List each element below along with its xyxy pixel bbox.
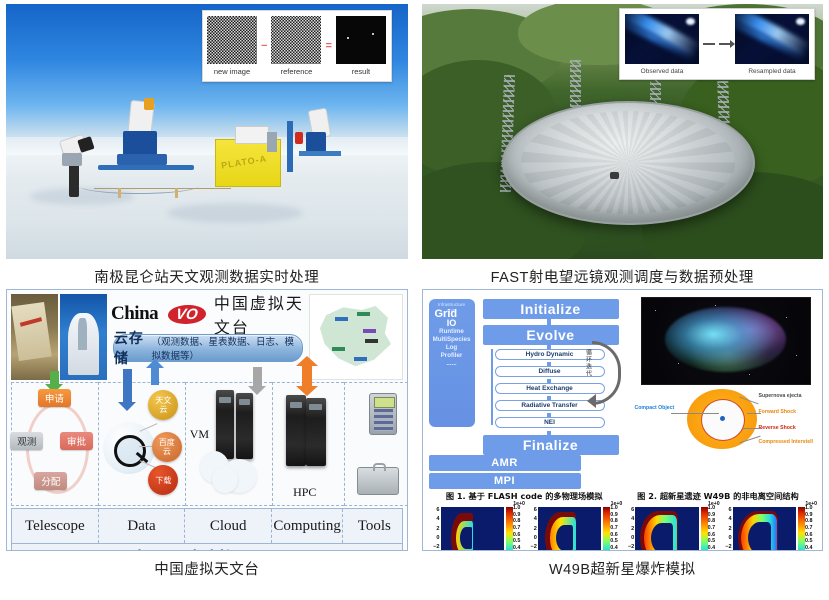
- telescope-base: [117, 154, 167, 165]
- map-node: [332, 347, 345, 351]
- y-tick: 4: [623, 516, 634, 522]
- hpc-label: HPC: [293, 485, 316, 500]
- inset-item: Resampled data: [735, 14, 809, 75]
- calculator-icon: [369, 393, 397, 435]
- y-tick: −2: [429, 544, 440, 550]
- leader-line: [747, 413, 761, 414]
- down-arrow-icon: [123, 369, 132, 403]
- cavity: [556, 525, 573, 551]
- cb-tick: 0.7: [610, 525, 621, 531]
- panel-caption-antarctic: 南极昆仑站天文观测数据实时处理: [6, 259, 408, 287]
- server-rack: [236, 393, 253, 459]
- panel-caption-china-vo: 中国虚拟天文台: [6, 551, 408, 579]
- leader-line: [743, 428, 761, 429]
- vo-column-row: 申请 审批 分配 观测: [11, 382, 403, 506]
- slide-page: PLATO-A: [0, 0, 829, 600]
- colorbar-exponent: 1e+0: [611, 501, 623, 507]
- inset-label: Observed data: [641, 68, 684, 75]
- search-magnifier-icon: [103, 422, 155, 474]
- infrastructure-units-panel: Infrastructure units Grid IO Runtime Mul…: [429, 299, 475, 427]
- data-node-astro-cloud[interactable]: 天文 云: [148, 390, 178, 420]
- rope-post: [118, 188, 121, 198]
- china-vo-chinese-name: 中国虚拟天文台: [214, 290, 305, 338]
- vo-column-data: 天文 云 百度 云 下载: [98, 382, 185, 506]
- panel-caption-fast: FAST射电望远镜观测调度与数据预处理: [422, 259, 824, 287]
- vm-label: VM: [190, 427, 209, 442]
- cloud-icon: [212, 466, 238, 493]
- new-image-thumbnail: [207, 16, 257, 64]
- vo-column-computing: HPC: [272, 382, 343, 506]
- colorbar: [798, 507, 805, 551]
- inset-label: new image: [214, 67, 250, 76]
- flow-finalize: Finalize: [483, 435, 619, 455]
- node-line-1: 下载: [155, 476, 171, 485]
- vo-column-labels: Telescope Data Cloud Computing Tools: [11, 508, 403, 544]
- telescope-pier: [69, 161, 79, 196]
- cb-tick: 0.8: [610, 518, 621, 524]
- vo-label-tools: Tools: [343, 509, 405, 543]
- leader-line: [671, 413, 719, 414]
- star: [796, 355, 797, 356]
- star: [678, 363, 679, 364]
- inset-item: new image: [207, 16, 257, 76]
- cb-tick: 0.8: [513, 518, 524, 524]
- node-line-2: 云: [159, 405, 167, 414]
- hpc-rack: [286, 395, 306, 466]
- cb-tick: 0.9: [805, 512, 816, 518]
- y-tick: 4: [721, 516, 732, 522]
- red-marker: [295, 132, 303, 145]
- cb-tick: 0.6: [513, 532, 524, 538]
- safety-rope: [94, 188, 231, 189]
- cb-tick: 0.8: [805, 518, 816, 524]
- telescope-base: [299, 151, 341, 156]
- node-line-1: 百度: [159, 438, 175, 447]
- y-tick: −2: [526, 544, 537, 550]
- minus-operator: −: [260, 40, 268, 52]
- snr-label-compressed-interstellar: Compressed Interstell: [759, 439, 814, 445]
- colorbar: [603, 507, 610, 551]
- cb-tick: 0.4: [805, 545, 816, 551]
- cb-tick: 0.6: [610, 532, 621, 538]
- panel-fast: Observed data Resampled data: [422, 4, 824, 289]
- w49b-remnant-image: [641, 297, 811, 385]
- y-tick: 0: [526, 535, 537, 541]
- cb-tick: 0.5: [513, 538, 524, 544]
- cloud-storage-bar: 云存储 （观测数据、星表数据、日志、模拟数据等）: [113, 334, 303, 362]
- colorbar-ticks: 1e+0 1.0 0.9 0.8 0.7 0.6 0.5 0.4 0.3 0.2…: [805, 505, 816, 551]
- y-tick: 2: [721, 526, 732, 532]
- node-line-2: 云: [163, 447, 171, 456]
- bidirectional-arrow-icon: [302, 365, 312, 387]
- inset-label: result: [352, 67, 370, 76]
- remnant-shell: [665, 307, 786, 372]
- node-line-1: 天文: [155, 396, 171, 405]
- vo-label-data: Data: [99, 509, 186, 543]
- bright-source: [796, 18, 805, 25]
- arrow-segment: [703, 43, 715, 45]
- snr-label-reverse-shock: Reverse Shock: [759, 425, 796, 431]
- star: [749, 374, 750, 375]
- heatmap-area: [538, 507, 601, 551]
- heatmap-panel: 6 4 2 0 −2 −4 −6: [429, 503, 524, 551]
- cavity: [651, 523, 673, 551]
- y-tick: 6: [429, 507, 440, 513]
- bright-source: [686, 18, 695, 25]
- y-tick: −2: [721, 544, 732, 550]
- colorbar-exponent: 1e+0: [805, 501, 817, 507]
- vo-photo-strip: [11, 294, 107, 380]
- y-tick: 2: [429, 526, 440, 532]
- cycle-step-approve[interactable]: 审批: [60, 432, 93, 450]
- colorbar-exponent: 1e+0: [708, 501, 720, 507]
- heatmap-area: [441, 507, 504, 551]
- snr-label-forward-shock: Forward Shock: [759, 409, 796, 415]
- dome-shape: [68, 313, 100, 375]
- china-wordmark: China: [111, 303, 158, 325]
- cb-tick: 0.8: [708, 518, 719, 524]
- heatmap-area: [733, 507, 796, 551]
- cb-tick: 0.9: [708, 512, 719, 518]
- y-tick: 6: [721, 507, 732, 513]
- data-node-download[interactable]: 下载: [148, 465, 178, 495]
- result-image-thumbnail: [336, 16, 386, 64]
- w49b-diagram: Infrastructure units Grid IO Runtime Mul…: [422, 289, 824, 551]
- reference-image-thumbnail: [271, 16, 321, 64]
- process-arrow-icon: [699, 43, 735, 45]
- y-tick: 4: [429, 516, 440, 522]
- panel-china-vo: China VO 中国虚拟天文台 云存储 （观测数据、星表数据、日志、模拟数据等…: [6, 289, 408, 589]
- cloud-storage-title: 云存储: [114, 328, 150, 368]
- support-mast: [287, 121, 293, 172]
- cb-tick: 0.7: [513, 525, 524, 531]
- w49b-top-row: Infrastructure units Grid IO Runtime Mul…: [429, 295, 817, 455]
- flow-mpi: MPI: [429, 473, 581, 489]
- image-subtraction-inset: new image − reference = result: [202, 10, 392, 82]
- server-rack: [216, 390, 235, 458]
- vo-column-telescope: 申请 审批 分配 观测: [11, 382, 98, 506]
- y-axis-ticks: 6 4 2 0 −2 −4 −6: [429, 507, 440, 551]
- panel-grid: PLATO-A: [0, 0, 829, 600]
- down-arrow-icon: [253, 367, 262, 387]
- vo-label-computing: Computing: [272, 509, 343, 543]
- snr-structure-schematic: Compact Object Supernova ejecta Forward …: [635, 387, 824, 451]
- y-tick: 4: [526, 516, 537, 522]
- cb-tick: 0.7: [708, 525, 719, 531]
- cycle-step-observe[interactable]: 观测: [10, 432, 43, 450]
- inset-item: Observed data: [625, 14, 699, 75]
- fast-dish: [502, 101, 755, 225]
- map-node: [365, 339, 378, 343]
- cb-tick: 0.4: [708, 545, 719, 551]
- vo-column-cloud: VM: [185, 382, 272, 506]
- cb-tick: 0.9: [513, 512, 524, 518]
- y-tick: 6: [526, 507, 537, 513]
- up-arrow-icon: [151, 367, 159, 385]
- loop-label: 循环迭代: [584, 349, 593, 377]
- telescope-main: [114, 101, 178, 178]
- telescope-cap: [144, 98, 154, 110]
- y-tick: −2: [623, 544, 634, 550]
- map-node: [354, 357, 367, 361]
- telescope-aperture: [77, 136, 94, 153]
- y-tick: 0: [429, 535, 440, 541]
- panel-antarctic: PLATO-A: [6, 4, 408, 289]
- vo-column-tools: [344, 382, 408, 506]
- flow-amr: AMR: [429, 455, 581, 471]
- flow-bracket: [491, 349, 493, 425]
- platform-vent: [267, 132, 277, 152]
- y-tick: 2: [623, 526, 634, 532]
- y-axis-ticks: 6 4 2 0 −2 −4 −6: [526, 507, 537, 551]
- star: [655, 310, 656, 311]
- inset-label: reference: [281, 67, 313, 76]
- vo-label-telescope: Telescope: [12, 509, 99, 543]
- cb-tick: 0.4: [610, 545, 621, 551]
- arrow-head-segment: [719, 43, 731, 45]
- heatmap-area: [635, 507, 698, 551]
- rope-post: [175, 188, 178, 198]
- flow-initialize: Initialize: [483, 299, 619, 319]
- flash-code-flowchart: Infrastructure units Grid IO Runtime Mul…: [429, 295, 627, 455]
- infra-grid-label: Grid: [429, 304, 475, 427]
- colorbar: [506, 507, 513, 551]
- colorbar-ticks: 1e+0 1.0 0.9 0.8 0.7 0.6 0.5 0.4 0.3 0.2…: [513, 505, 524, 551]
- colorbar: [701, 507, 708, 551]
- simulation-structure: [738, 511, 787, 551]
- inset-item: result: [336, 16, 386, 76]
- cavity: [748, 522, 772, 551]
- telescope-cycle: 申请 审批 分配 观测: [12, 383, 98, 505]
- telescope-right: [299, 109, 343, 175]
- y-tick: 2: [526, 526, 537, 532]
- cycle-step-apply[interactable]: 申请: [38, 389, 71, 407]
- colorbar-ticks: 1e+0 1.0 0.9 0.8 0.7 0.6 0.5 0.4 0.3 0.2…: [708, 505, 719, 551]
- heatmap-panel: 6 4 2 0 −2 −4 −6: [623, 503, 718, 551]
- vo-label-cloud: Cloud: [185, 509, 272, 543]
- resampled-data-thumbnail: [735, 14, 809, 64]
- observatory-dome-photo: [60, 294, 107, 380]
- map-node: [363, 329, 376, 333]
- antarctic-photo: PLATO-A: [6, 4, 408, 259]
- china-vo-diagram: China VO 中国虚拟天文台 云存储 （观测数据、星表数据、日志、模拟数据等…: [6, 289, 408, 551]
- y-axis-ticks: 6 4 2 0 −2 −4 −6: [721, 507, 732, 551]
- fast-photo: Observed data Resampled data: [422, 4, 824, 259]
- cloud-storage-detail: （观测数据、星表数据、日志、模拟数据等）: [151, 334, 301, 362]
- star: [786, 317, 787, 318]
- cb-tick: 0.5: [805, 538, 816, 544]
- nei-evolution-heatmaps: 6 4 2 0 −2 −4 −6: [429, 503, 817, 551]
- heatmap-panel: 6 4 2 0 −2 −4 −6: [721, 503, 816, 551]
- figure-captions-row: 图 1. 基于 FLASH code 的多物理场模拟 图 2. 超新星遗迹 W4…: [429, 490, 817, 502]
- astrocloud-url[interactable]: http://astrocloud.china-vo.org/: [11, 544, 403, 551]
- feed-cabin: [610, 172, 619, 179]
- y-axis-ticks: 6 4 2 0 −2 −4 −6: [623, 507, 634, 551]
- observed-data-thumbnail: [625, 14, 699, 64]
- equals-operator: =: [324, 40, 332, 52]
- star: [715, 305, 716, 306]
- data-resampling-inset: Observed data Resampled data: [619, 8, 815, 80]
- snr-label-supernova-ejecta: Supernova ejecta: [759, 393, 802, 399]
- simulation-structure: [543, 511, 592, 551]
- map-node: [357, 312, 370, 316]
- panel-w49b: Infrastructure units Grid IO Runtime Mul…: [422, 289, 824, 589]
- platform-instrument: [235, 126, 269, 143]
- cavity: [460, 527, 472, 549]
- snr-label-compact-object: Compact Object: [635, 405, 675, 411]
- data-node-baidu-cloud[interactable]: 百度 云: [152, 432, 182, 462]
- cycle-step-allocate[interactable]: 分配: [34, 472, 67, 490]
- cb-tick: 0.5: [610, 538, 621, 544]
- hpc-rack: [306, 398, 326, 466]
- inset-label: Resampled data: [748, 68, 795, 75]
- y-tick: 0: [721, 535, 732, 541]
- briefcase-icon: [357, 467, 399, 495]
- map-node: [335, 317, 348, 321]
- y-tick: 0: [623, 535, 634, 541]
- compact-object-dot: [720, 416, 725, 421]
- simulation-structure: [446, 511, 495, 551]
- vo-header-row: China VO 中国虚拟天文台 云存储 （观测数据、星表数据、日志、模拟数据等…: [11, 294, 403, 380]
- cb-tick: 0.9: [610, 512, 621, 518]
- instrument-photo: [11, 294, 58, 380]
- colorbar-ticks: 1e+0 1.0 0.9 0.8 0.7 0.6 0.5 0.4 0.3 0.2…: [610, 505, 621, 551]
- china-node-map: [309, 294, 403, 380]
- flow-step-nei: NEI: [495, 417, 605, 428]
- cb-tick: 0.7: [805, 525, 816, 531]
- inset-item: reference: [271, 16, 321, 76]
- y-tick: 6: [623, 507, 634, 513]
- cb-tick: 0.6: [805, 532, 816, 538]
- telescope-yoke: [306, 132, 325, 152]
- flow-step-heat-exchange: Heat Exchange: [495, 383, 605, 394]
- colorbar-exponent: 1e+0: [513, 501, 525, 507]
- cb-tick: 0.4: [513, 545, 524, 551]
- heatmap-panel: 6 4 2 0 −2 −4 −6: [526, 503, 621, 551]
- vo-oval-icon: VO: [167, 305, 207, 324]
- panel-caption-w49b: W49B超新星爆炸模拟: [422, 551, 824, 579]
- w49b-imagery: Compact Object Supernova ejecta Forward …: [627, 295, 817, 455]
- simulation-structure: [640, 511, 689, 551]
- iteration-loop-arrow-icon: [592, 341, 621, 405]
- vo-brand-and-storage: China VO 中国虚拟天文台 云存储 （观测数据、星表数据、日志、模拟数据等…: [111, 294, 305, 380]
- cb-tick: 0.6: [708, 532, 719, 538]
- telescope-rail: [98, 165, 194, 170]
- cb-tick: 0.5: [708, 538, 719, 544]
- telescope-mount: [62, 153, 82, 166]
